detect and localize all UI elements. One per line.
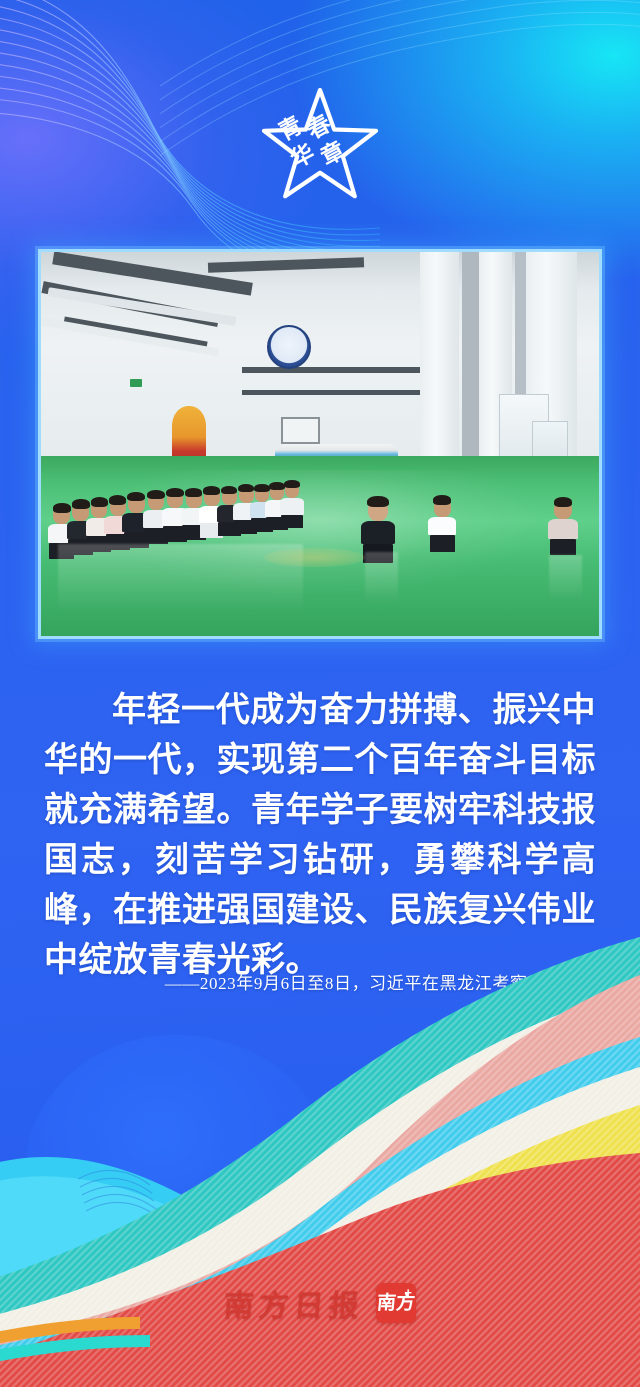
news-photo: [38, 249, 602, 639]
person-attendee-far-right: [554, 500, 571, 555]
photo-scene: [41, 252, 599, 636]
ribbon-cyan-band: [0, 1037, 640, 1387]
floor-reflection-center: [365, 552, 398, 606]
photo-pillar-shadow-1: [462, 252, 479, 467]
nanfang-plus-badge: 南方 +: [376, 1283, 416, 1323]
photo-wall-frame: [281, 417, 320, 444]
ribbon-yellow: [0, 1105, 640, 1387]
photo-truss: [242, 367, 421, 373]
photo-truss-2: [242, 390, 421, 395]
ribbon-pink-stripes: [0, 975, 640, 1387]
badge-plus-icon: +: [404, 1286, 412, 1299]
person-attendee-right: [434, 498, 451, 552]
ribbon-pink: [0, 975, 640, 1387]
photo-exit-sign: [130, 379, 142, 387]
brand-logo: 南方日报 南方 +: [0, 1281, 640, 1325]
ribbon-cream-stripes: [0, 1067, 640, 1387]
background-blob: [25, 1035, 325, 1285]
photo-wall-emblem: [267, 325, 311, 369]
star-logo-icon: 青 春 华 章: [260, 84, 380, 200]
poster-canvas: 青 春 华 章: [0, 0, 640, 1387]
ribbon-cream: [0, 1067, 640, 1387]
person-group-member: [285, 482, 300, 528]
logo-qingchun-huazhang: 青 春 华 章: [0, 82, 640, 202]
floor-emblem-decal: [264, 548, 364, 567]
ribbon-white-stripes: [0, 987, 640, 1387]
floor-reflection-right: [549, 555, 582, 601]
ribbon-white: [0, 987, 640, 1387]
quote-attribution: ——2023年9月6日至8日，习近平在黑龙江考察时的讲话: [165, 969, 598, 994]
ribbon-yellow-stripes: [0, 1105, 640, 1387]
brand-name-text: 南方日报: [222, 1281, 365, 1325]
photo-pillar-1: [420, 252, 459, 467]
ribbon-red-stripes: [0, 1153, 640, 1387]
ribbon-cyan-left: [0, 1157, 400, 1387]
ribbon-red: [0, 1153, 640, 1387]
ribbon-teal-accent: [0, 1335, 150, 1365]
quote-text: 年轻一代成为奋力拼搏、振兴中华的一代，实现第二个百年奋斗目标就充满希望。青年学子…: [44, 686, 596, 986]
ribbon-cyan-band-stripes: [0, 1037, 640, 1387]
